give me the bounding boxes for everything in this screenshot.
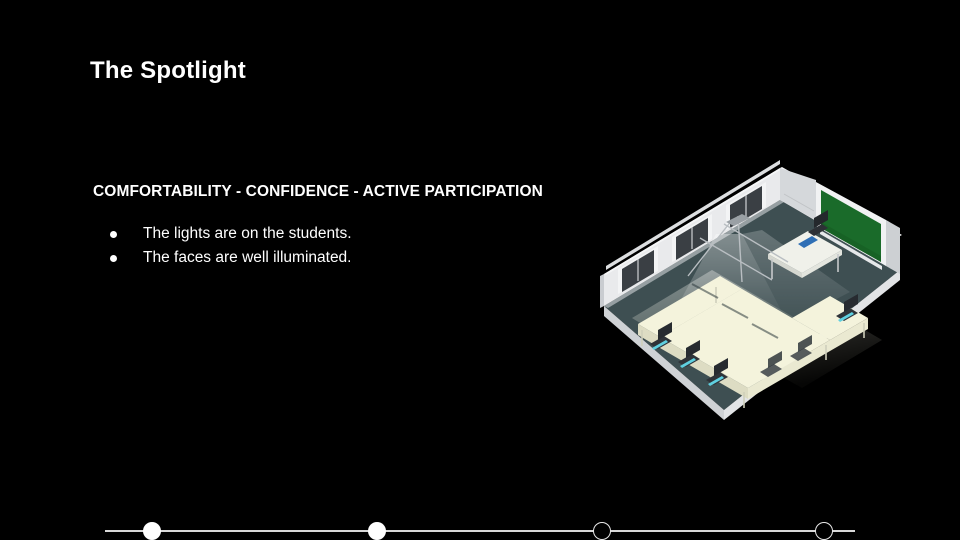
classroom-illustration (592, 158, 912, 430)
list-item-label: The faces are well illuminated. (143, 249, 352, 266)
progress-track (105, 530, 855, 532)
progress-step-2[interactable] (368, 522, 386, 540)
page-title: The Spotlight (90, 57, 246, 85)
bullet-dot-icon (110, 255, 117, 262)
slide-progress-indicator (105, 521, 855, 540)
bullet-dot-icon (110, 231, 117, 238)
list-item-label: The lights are on the students. (143, 225, 352, 242)
progress-step-4[interactable] (815, 522, 833, 540)
progress-step-3[interactable] (593, 522, 611, 540)
progress-step-1[interactable] (143, 522, 161, 540)
presentation-slide: The Spotlight DESIGN PROPOSAL COMFORTABI… (0, 0, 960, 540)
